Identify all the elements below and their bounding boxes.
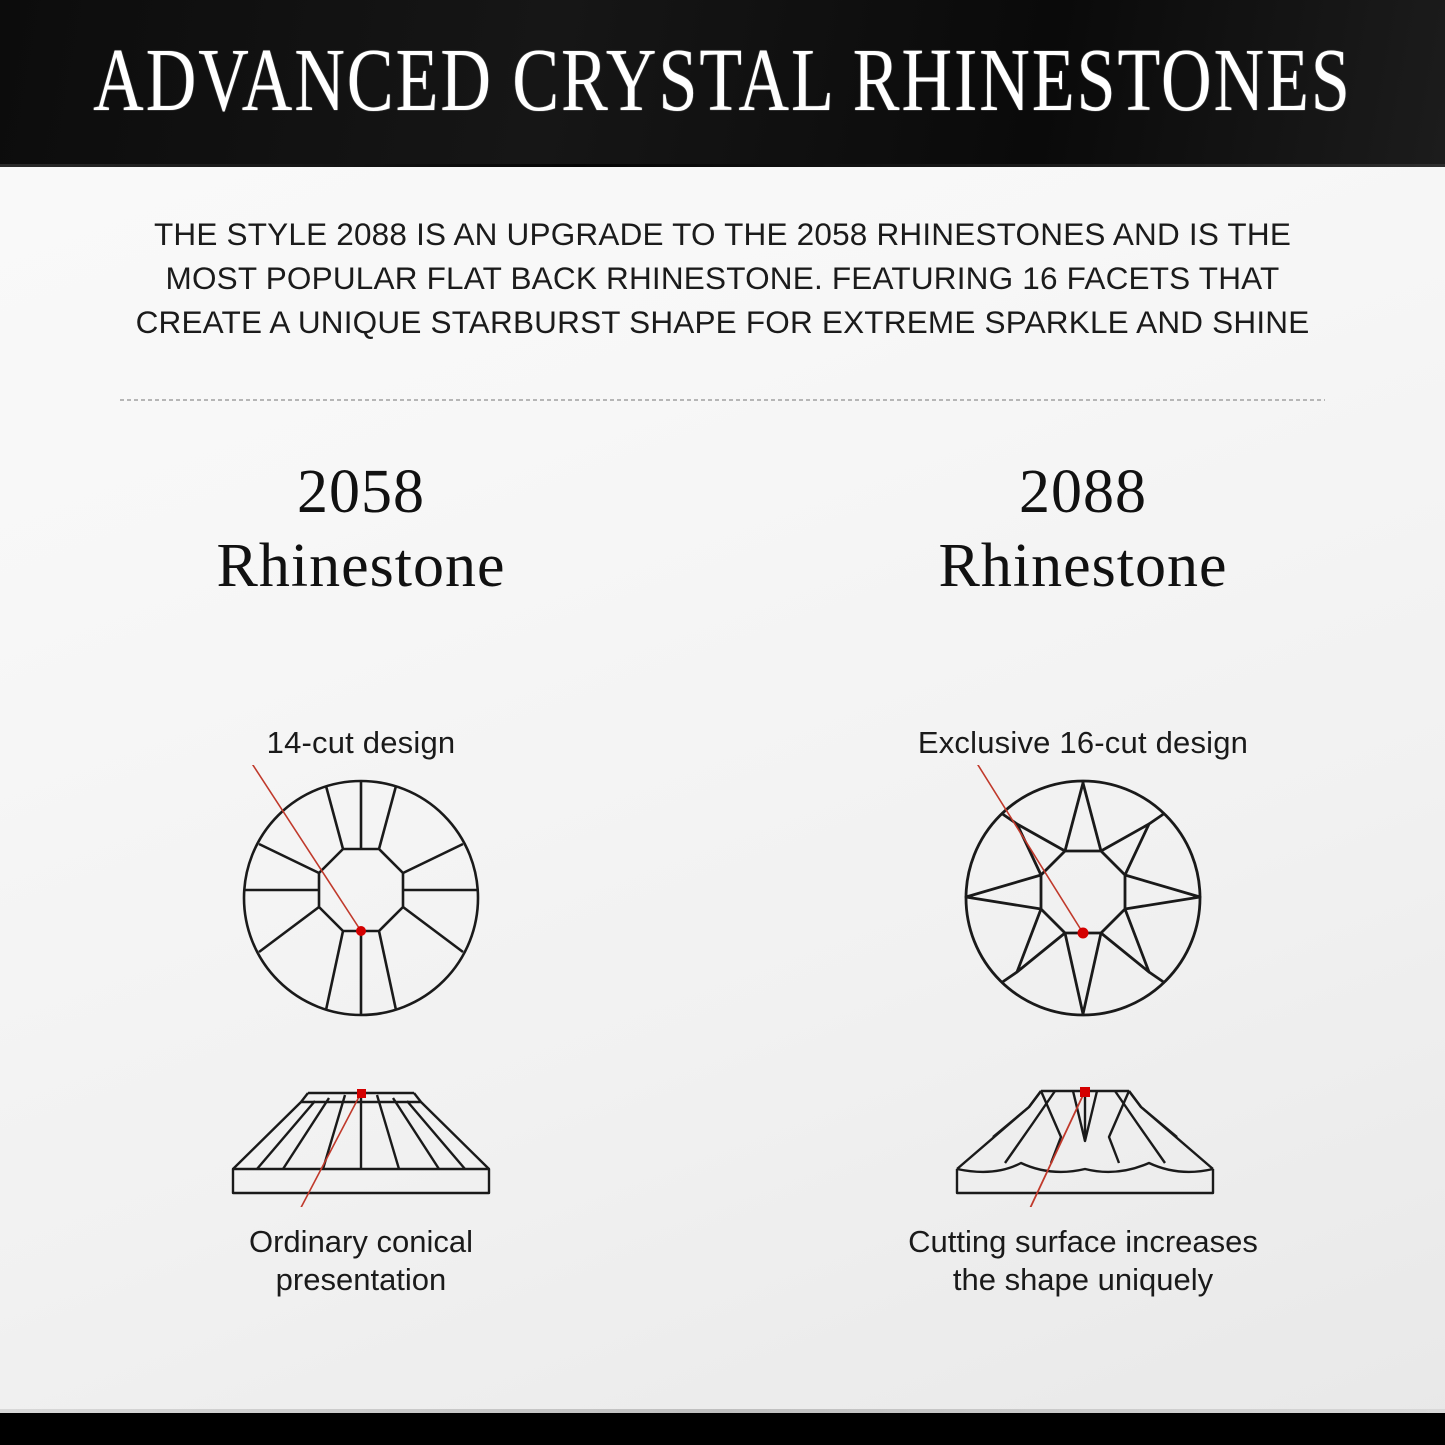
facet-label-2058: 14-cut design (267, 725, 456, 761)
column-title-word: Rhinestone (217, 529, 506, 603)
column-title-word: Rhinestone (939, 529, 1228, 603)
column-2058: 2058 Rhinestone 14-cut design (0, 455, 722, 1299)
caption-2088: Cutting surface increases the shape uniq… (908, 1223, 1258, 1299)
header-underline (0, 164, 1445, 167)
callout-dot (1080, 1087, 1090, 1097)
starburst-facet-circle-icon (933, 765, 1233, 1025)
footer-bar (0, 1413, 1445, 1445)
page-title: ADVANCED CRYSTAL RHINESTONES (93, 37, 1352, 127)
caption-line-2: the shape uniquely (908, 1261, 1258, 1299)
header-bar: ADVANCED CRYSTAL RHINESTONES (0, 0, 1445, 164)
callout-dot (356, 926, 366, 936)
column-title-2088: 2088 Rhinestone (939, 455, 1228, 603)
intro-line-2: MOST POPULAR FLAT BACK RHINESTONE. FEATU… (100, 256, 1345, 300)
caption-line-1: Ordinary conical (249, 1223, 473, 1261)
callout-dot (1078, 928, 1089, 939)
side-view-2088 (933, 1077, 1233, 1207)
side-view-2058 (211, 1077, 511, 1207)
leader-line (1025, 1091, 1085, 1207)
intro-line-3: CREATE A UNIQUE STARBURST SHAPE FOR EXTR… (100, 300, 1345, 344)
intro-line-1: THE STYLE 2088 IS AN UPGRADE TO THE 2058… (100, 212, 1345, 256)
caption-line-1: Cutting surface increases (908, 1223, 1258, 1261)
top-view-2058 (211, 765, 511, 1025)
scalloped-profile-icon (933, 1077, 1233, 1207)
infographic-page: ADVANCED CRYSTAL RHINESTONES THE STYLE 2… (0, 0, 1445, 1445)
callout-dot (357, 1089, 366, 1098)
intro-paragraph: THE STYLE 2088 IS AN UPGRADE TO THE 2058… (100, 212, 1345, 344)
conical-profile-icon (211, 1077, 511, 1207)
column-2088: 2088 Rhinestone Exclusive 16-cut design (722, 455, 1444, 1299)
caption-2058: Ordinary conical presentation (249, 1223, 473, 1299)
comparison-columns: 2058 Rhinestone 14-cut design (0, 455, 1445, 1299)
top-view-2088 (933, 765, 1233, 1025)
caption-line-2: presentation (249, 1261, 473, 1299)
column-title-number: 2058 (217, 455, 506, 529)
facet-label-2088: Exclusive 16-cut design (918, 725, 1248, 761)
radial-facet-circle-icon (211, 765, 511, 1025)
section-divider (120, 399, 1325, 401)
column-title-number: 2088 (939, 455, 1228, 529)
column-title-2058: 2058 Rhinestone (217, 455, 506, 603)
